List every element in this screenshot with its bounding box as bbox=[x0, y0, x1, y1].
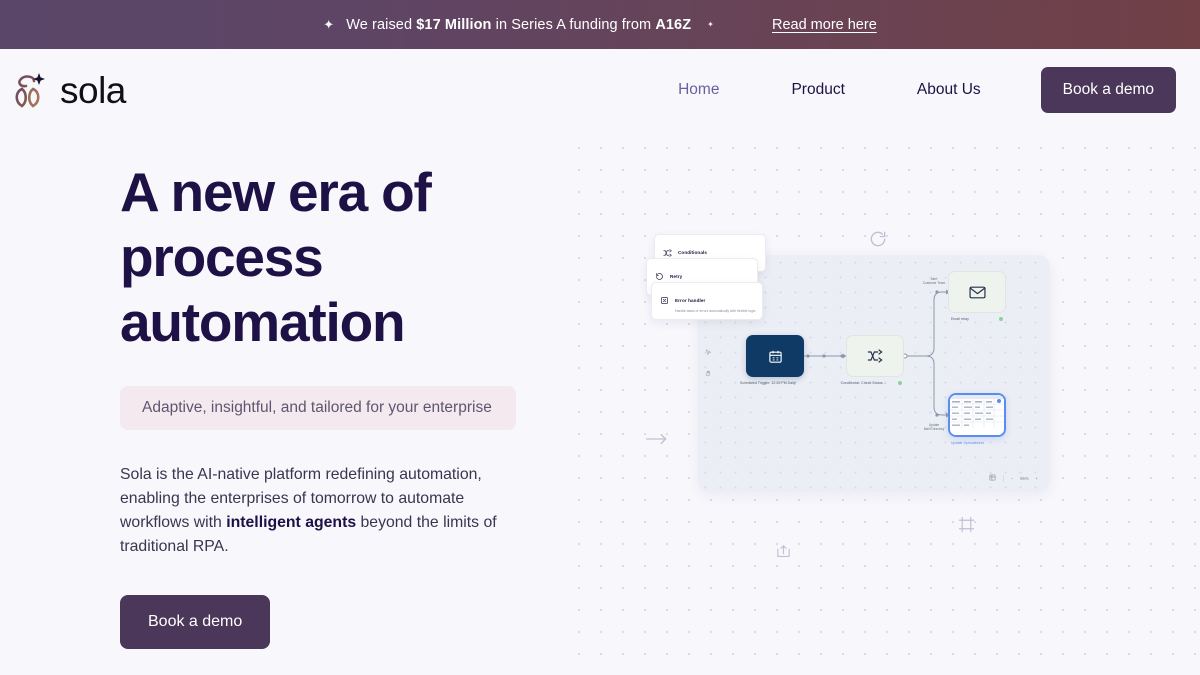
sola-logo-icon bbox=[8, 67, 54, 113]
feature-card-title: Retry bbox=[670, 274, 682, 279]
calendar-icon bbox=[768, 349, 783, 364]
crop-frame-icon bbox=[958, 516, 975, 538]
edge-label-alert: Alert Customer Team bbox=[912, 277, 956, 286]
hero-description-highlight: intelligent agents bbox=[226, 514, 356, 531]
error-icon bbox=[660, 292, 669, 310]
scheduled-trigger-node[interactable] bbox=[746, 335, 804, 377]
branch-icon bbox=[867, 349, 883, 363]
announcement-message: ✦ We raised $17 Million in Series A fund… bbox=[323, 17, 714, 33]
spreadsheet-node-caption: Update Spreadsheet bbox=[951, 441, 984, 445]
email-node[interactable] bbox=[948, 271, 1006, 313]
sparkle-icon: ✦ bbox=[707, 21, 714, 29]
hero-content: A new era of process automation Adaptive… bbox=[120, 160, 540, 649]
nav-item-about-us[interactable]: About Us bbox=[881, 81, 1017, 99]
feature-card-text: Error handler Handle tasks or errors aut… bbox=[675, 289, 755, 313]
zoom-level-label: 96% bbox=[1020, 476, 1028, 481]
edge-label-update: Update Main Directory bbox=[912, 423, 956, 432]
hand-icon[interactable] bbox=[705, 364, 712, 382]
conditional-caption: Conditional: Check Status... bbox=[841, 381, 886, 385]
divider bbox=[1003, 475, 1004, 482]
book-a-demo-hero-button[interactable]: Book a demo bbox=[120, 595, 270, 649]
arrow-right-icon bbox=[645, 431, 669, 452]
brand-logo[interactable]: sola bbox=[8, 67, 126, 113]
feature-card-subtitle: Handle tasks or errors automatically wit… bbox=[675, 309, 755, 313]
feature-card-title: Conditionals bbox=[678, 250, 707, 255]
brand-name: sola bbox=[60, 72, 126, 109]
status-dot bbox=[999, 317, 1003, 321]
read-more-link[interactable]: Read more here bbox=[772, 17, 877, 33]
spreadsheet-node[interactable] bbox=[948, 393, 1006, 437]
zoom-in-button[interactable]: + bbox=[1036, 476, 1038, 481]
sparkle-icon: ✦ bbox=[323, 18, 334, 31]
feature-card-error-handler[interactable]: Error handler Handle tasks or errors aut… bbox=[651, 282, 763, 320]
hero-description: Sola is the AI-native platform redefinin… bbox=[120, 463, 510, 559]
headline-line-2: process bbox=[120, 226, 323, 288]
investor-name: A16Z bbox=[655, 17, 691, 33]
upload-tray-icon bbox=[775, 543, 792, 565]
site-header: sola Home Product About Us Book a demo bbox=[0, 49, 1200, 131]
spreadsheet-icon bbox=[950, 395, 1004, 435]
status-dot bbox=[898, 381, 902, 385]
announcement-text: We raised $17 Million in Series A fundin… bbox=[346, 17, 691, 33]
mail-icon bbox=[969, 286, 986, 299]
email-node-caption: Email relay bbox=[951, 317, 969, 321]
main-nav: Home Product About Us Book a demo bbox=[642, 67, 1176, 113]
canvas-tool-rail[interactable] bbox=[704, 343, 713, 382]
refresh-icon bbox=[868, 229, 888, 254]
scheduled-trigger-caption: Scheduled Trigger: 12:00 PM Daily bbox=[740, 381, 796, 385]
zoom-out-button[interactable]: − bbox=[1011, 476, 1013, 481]
book-a-demo-nav-button[interactable]: Book a demo bbox=[1041, 67, 1176, 113]
headline-line-1: A new era of bbox=[120, 161, 431, 223]
canvas-zoom-controls[interactable]: − 96% + bbox=[989, 474, 1038, 482]
landing-page: ✦ We raised $17 Million in Series A fund… bbox=[0, 0, 1200, 675]
tagline-pill: Adaptive, insightful, and tailored for y… bbox=[120, 386, 516, 430]
cursor-icon[interactable] bbox=[705, 343, 712, 361]
funding-amount: $17 Million bbox=[416, 17, 491, 33]
conditional-node[interactable] bbox=[846, 335, 904, 377]
nav-item-product[interactable]: Product bbox=[755, 81, 880, 99]
product-illustration: Scheduled Trigger: 12:00 PM Daily Condit… bbox=[560, 131, 1200, 675]
announcement-banner: ✦ We raised $17 Million in Series A fund… bbox=[0, 0, 1200, 49]
feature-card-title: Error handler bbox=[675, 298, 705, 303]
page-title: A new era of process automation bbox=[120, 160, 540, 355]
fit-view-icon[interactable] bbox=[989, 474, 996, 482]
headline-line-3: automation bbox=[120, 291, 404, 353]
nav-item-home[interactable]: Home bbox=[642, 81, 755, 99]
